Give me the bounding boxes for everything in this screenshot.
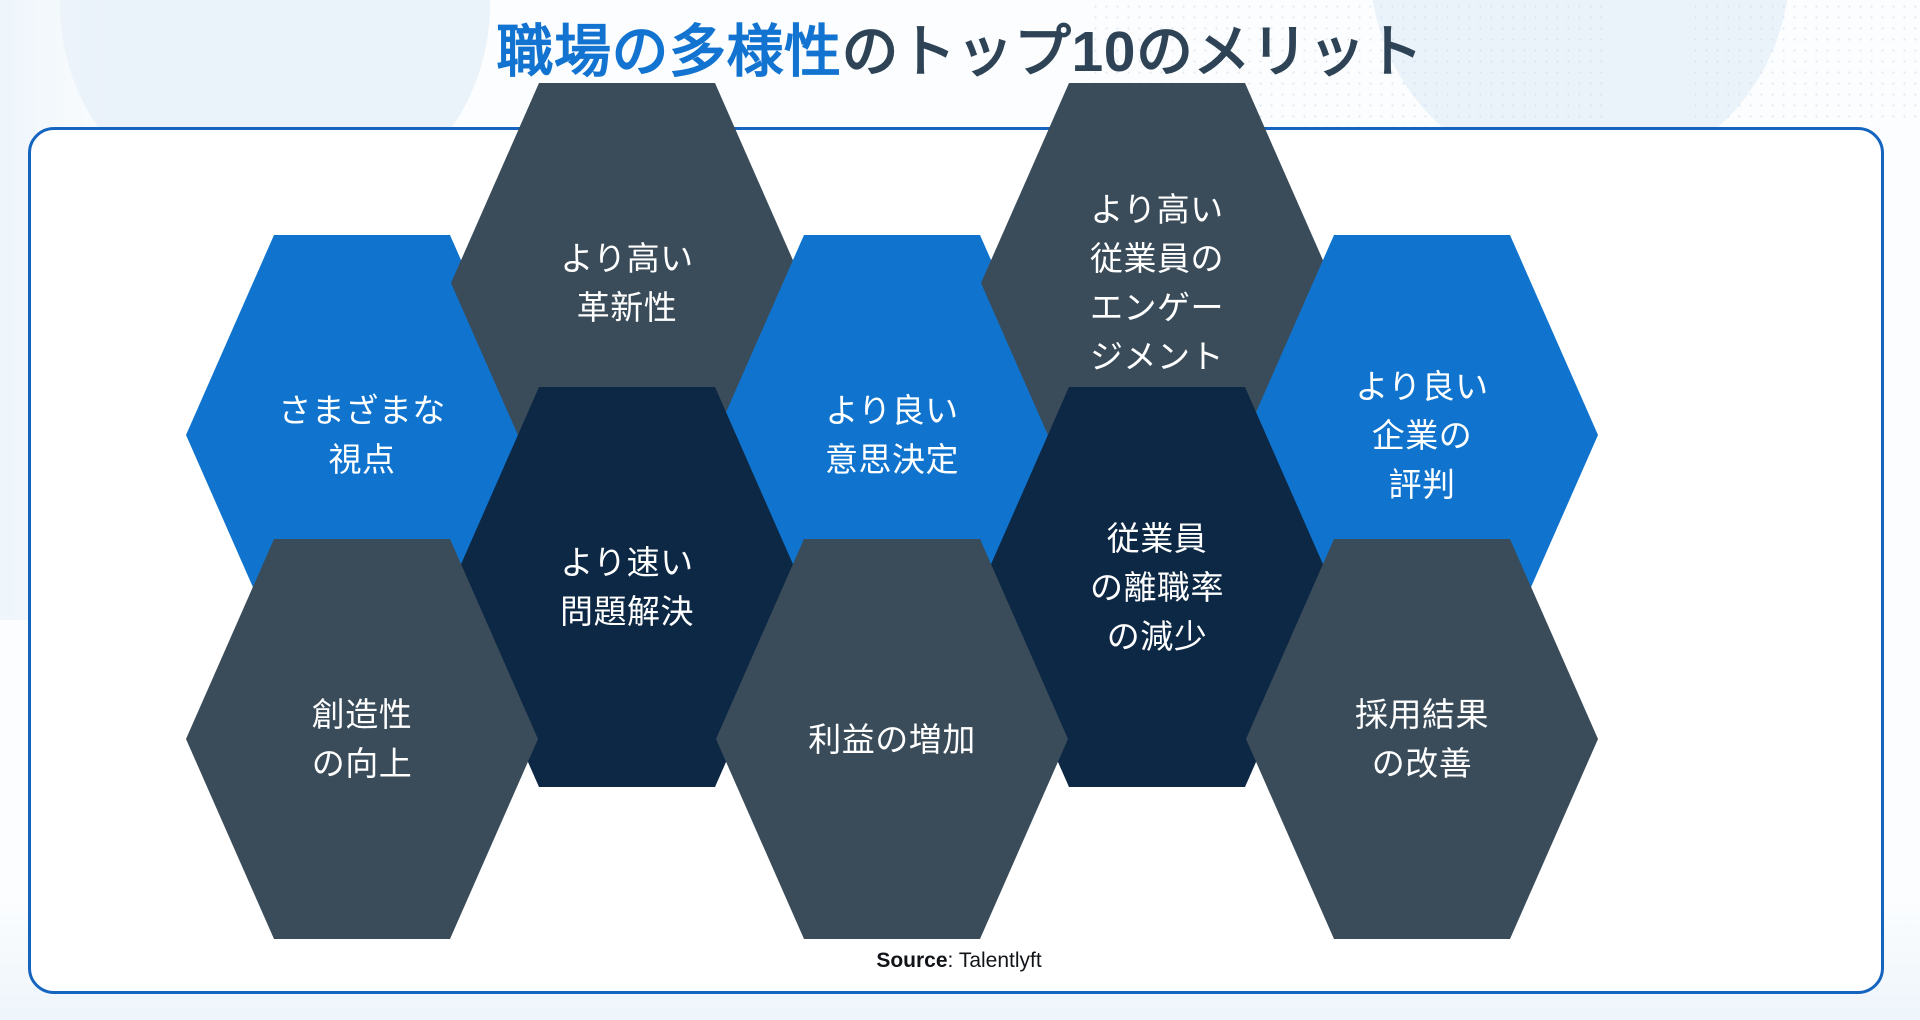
source-separator: : (948, 949, 959, 972)
hexagon-label: 採用結果 の改善 (1355, 690, 1489, 788)
source-line: Source: Talentlyft (31, 949, 1887, 973)
hexagon-label: さまざまな 視点 (278, 386, 446, 484)
hexagon-label: より良い 意思決定 (825, 386, 959, 484)
source-label: Source (876, 949, 947, 972)
hexagon-label: より速い 問題解決 (560, 538, 694, 636)
source-value: Talentlyft (959, 949, 1042, 972)
honeycomb-diagram: さまざまな 視点より高い 革新性より良い 意思決定より高い 従業員の エンゲー … (31, 130, 1887, 950)
hexagon-label: 従業員 の離職率 の減少 (1090, 514, 1224, 661)
hexagon-label: 利益の増加 (808, 715, 976, 764)
page-title-highlight: 職場の多様性 (497, 20, 842, 84)
page-title: 職場の多様性のトップ10のメリット (0, 10, 1920, 94)
hexagon-label: 創造性 の向上 (312, 690, 413, 788)
infographic-card: さまざまな 視点より高い 革新性より良い 意思決定より高い 従業員の エンゲー … (28, 127, 1884, 994)
page-title-rest: のトップ10のメリット (842, 20, 1424, 84)
title-bar: 職場の多様性のトップ10のメリット (0, 10, 1920, 94)
hexagon-label: より良い 企業の 評判 (1355, 362, 1488, 509)
hexagon-label: より高い 革新性 (560, 234, 693, 332)
hexagon-label: より高い 従業員の エンゲー ジメント (1090, 185, 1224, 381)
